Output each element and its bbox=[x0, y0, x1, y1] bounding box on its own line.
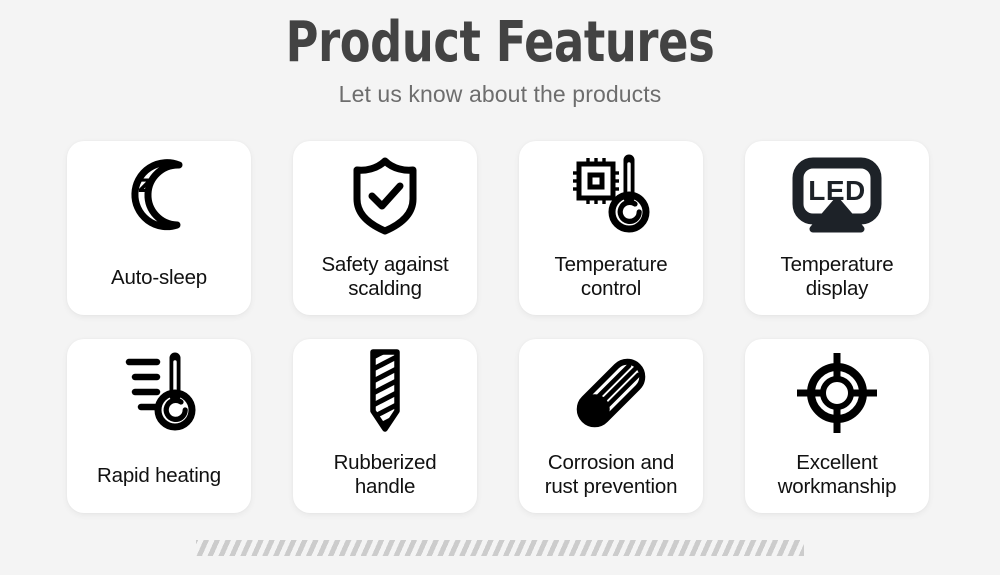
feature-label: Rubberized handle bbox=[293, 451, 477, 499]
page-title: Product Features bbox=[100, 14, 900, 73]
feature-label: Corrosion and rust prevention bbox=[519, 451, 703, 499]
feature-card-corrosion-rust-prevention[interactable]: Corrosion and rust prevention bbox=[519, 339, 703, 513]
feature-card-auto-sleep[interactable]: z Auto-sleep bbox=[67, 141, 251, 315]
decorative-hatch-band bbox=[196, 540, 804, 556]
feature-label: Temperature display bbox=[745, 253, 929, 301]
page-header: Product Features Let us know about the p… bbox=[0, 0, 1000, 108]
svg-text:z: z bbox=[138, 169, 153, 198]
chip-thermometer-icon bbox=[519, 141, 703, 245]
feature-card-grid: z Auto-sleep Safety against scalding bbox=[67, 141, 936, 513]
feature-card-temperature-display[interactable]: LED Temperature display bbox=[745, 141, 929, 315]
shield-check-icon bbox=[293, 141, 477, 245]
feature-label: Safety against scalding bbox=[293, 253, 477, 301]
feature-label: Temperature control bbox=[519, 253, 703, 301]
rod-stripes-icon bbox=[519, 339, 703, 443]
feature-card-safety-against-scalding[interactable]: Safety against scalding bbox=[293, 141, 477, 315]
rubber-handle-icon bbox=[293, 339, 477, 443]
moon-sleep-icon: z bbox=[67, 141, 251, 245]
crosshair-target-icon bbox=[745, 339, 929, 443]
feature-card-rapid-heating[interactable]: Rapid heating bbox=[67, 339, 251, 513]
feature-card-excellent-workmanship[interactable]: Excellent workmanship bbox=[745, 339, 929, 513]
page-subtitle: Let us know about the products bbox=[0, 81, 1000, 108]
feature-label: Auto-sleep bbox=[67, 266, 251, 290]
feature-card-temperature-control[interactable]: Temperature control bbox=[519, 141, 703, 315]
led-display-icon: LED bbox=[745, 141, 929, 245]
feature-label: Rapid heating bbox=[67, 464, 251, 488]
rapid-thermometer-icon bbox=[67, 339, 251, 443]
feature-label: Excellent workmanship bbox=[745, 451, 929, 499]
feature-card-rubberized-handle[interactable]: Rubberized handle bbox=[293, 339, 477, 513]
